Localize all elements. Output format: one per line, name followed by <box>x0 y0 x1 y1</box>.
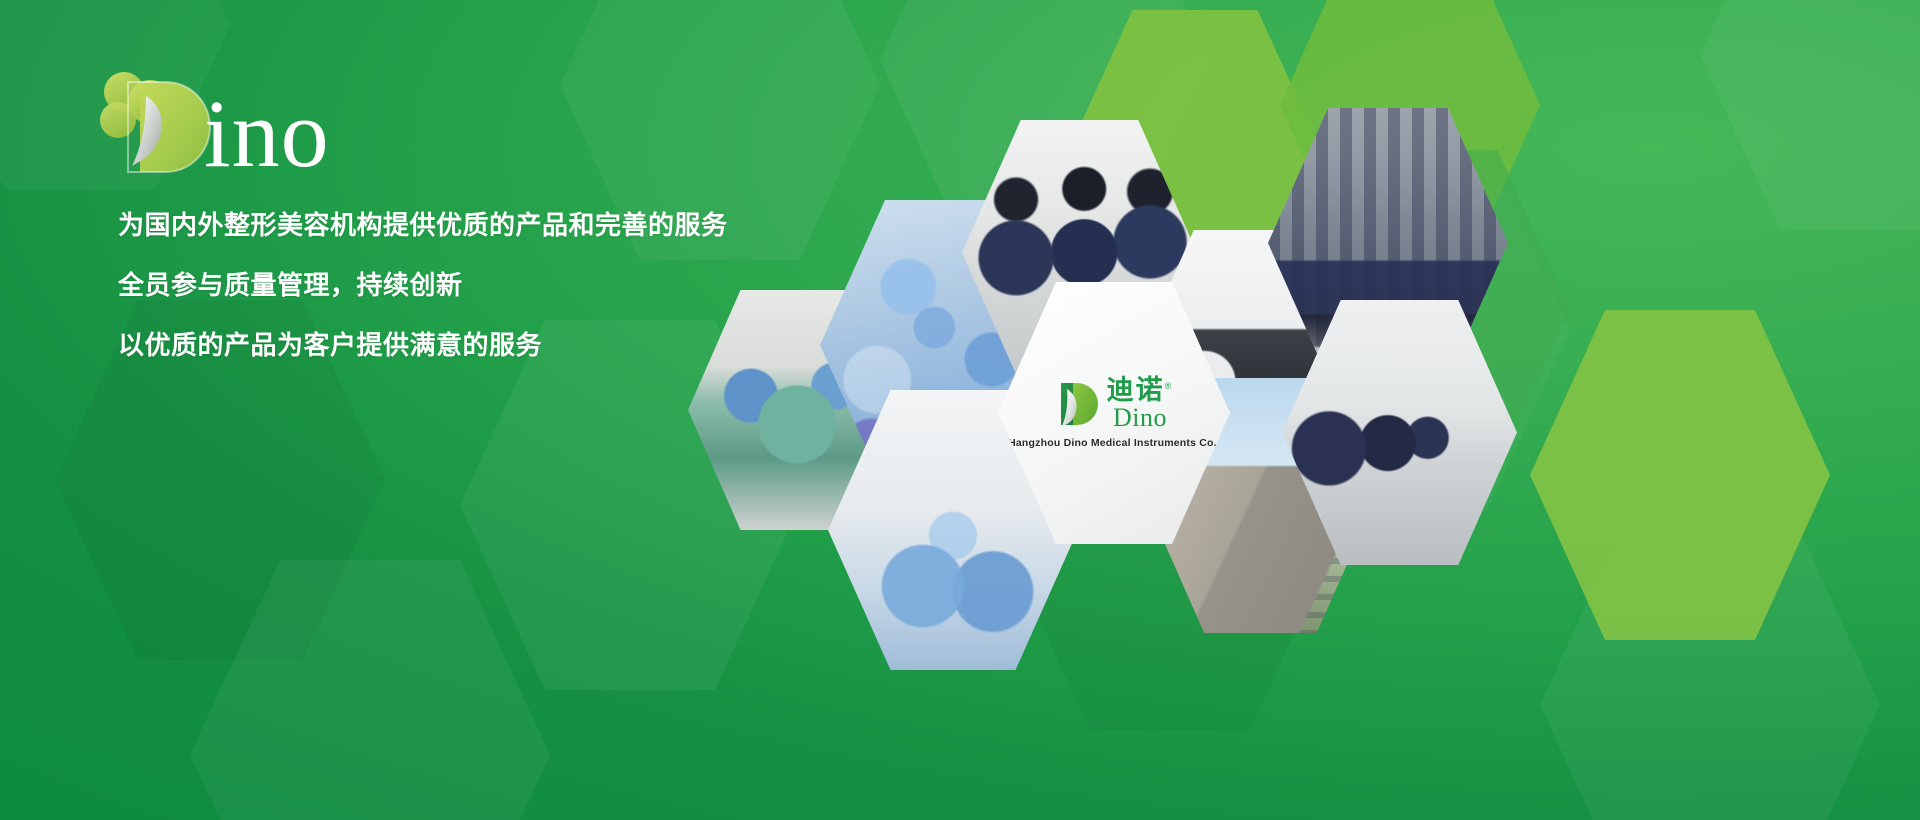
brand-logo[interactable]: ino <box>88 62 518 192</box>
logo-company-caption: Hangzhou Dino Medical Instruments Co.. <box>1008 437 1220 449</box>
logo-latin-name: Dino <box>1113 405 1167 431</box>
logo-name-block: 迪诺® Dino <box>1107 377 1174 431</box>
dino-leaf-d-mark-icon <box>1055 379 1099 429</box>
logo-chinese-name: 迪诺® <box>1107 377 1174 404</box>
banner-stage: ino 为国内外整形美容机构提供优质的产品和完善的服务 全员参与质量管理，持续创… <box>0 0 1920 820</box>
svg-text:ino: ino <box>204 80 330 187</box>
dino-leaf-d-logo-icon: ino <box>88 62 518 192</box>
bg-hexagon-decor <box>1700 0 1920 230</box>
logo-lockup: 迪诺® Dino <box>1055 377 1174 431</box>
slogan-line-1: 为国内外整形美容机构提供优质的产品和完善的服务 <box>118 212 878 238</box>
logo-chinese-text: 迪诺 <box>1107 375 1165 405</box>
registered-mark: ® <box>1165 381 1174 391</box>
